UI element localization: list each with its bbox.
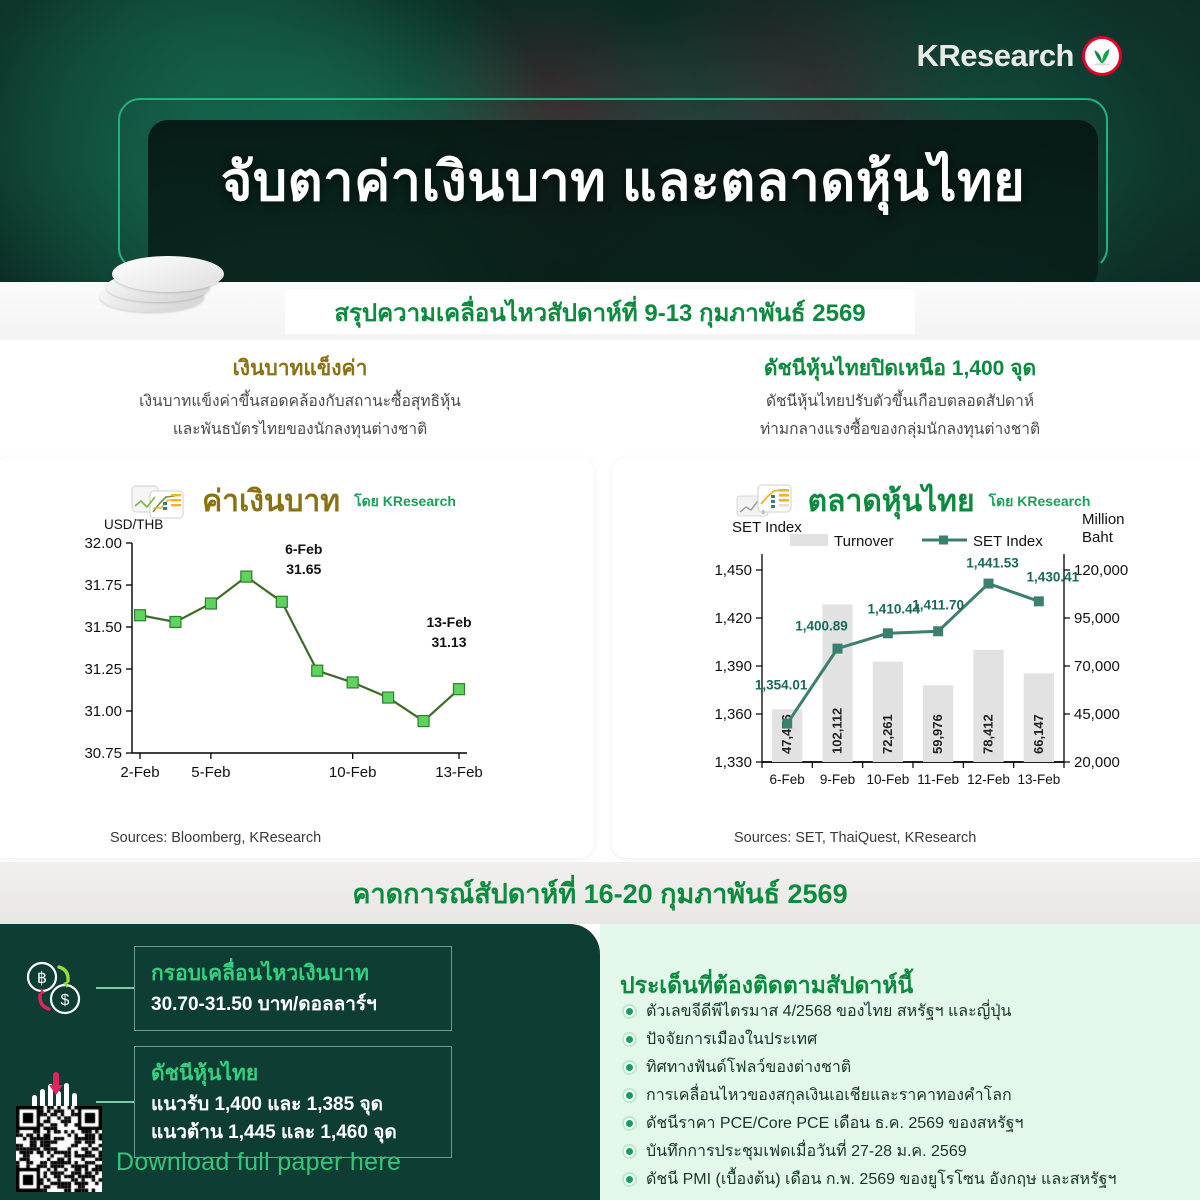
svg-text:9-Feb: 9-Feb xyxy=(820,772,855,787)
svg-text:11-Feb: 11-Feb xyxy=(917,772,959,787)
svg-text:Turnover: Turnover xyxy=(834,533,893,550)
bullet-dot-icon xyxy=(622,1172,637,1187)
svg-text:12-Feb: 12-Feb xyxy=(967,772,1010,787)
svg-text:59,976: 59,976 xyxy=(930,714,945,754)
svg-text:20,000: 20,000 xyxy=(1074,754,1120,771)
svg-text:1,441.53: 1,441.53 xyxy=(966,556,1019,571)
svg-text:31.75: 31.75 xyxy=(84,577,122,594)
svg-text:1,390: 1,390 xyxy=(714,658,752,675)
svg-text:2-Feb: 2-Feb xyxy=(120,764,159,781)
svg-text:6-Feb: 6-Feb xyxy=(770,772,805,787)
list-item: ปัจจัยการเมืองในประเทศ xyxy=(622,1028,1187,1052)
panel-set-chart: ตลาดหุ้นไทย โดย KResearch SET IndexMilli… xyxy=(612,458,1200,858)
forecast-set-support: แนวรับ 1,400 และ 1,385 จุด xyxy=(151,1092,435,1118)
svg-text:102,112: 102,112 xyxy=(830,708,845,754)
kresearch-logo: KResearch xyxy=(917,36,1122,76)
page-title: จับตาค่าเงินบาท และตลาดหุ้นไทย xyxy=(148,150,1098,215)
summary-col-set: ดัชนีหุ้นไทยปิดเหนือ 1,400 จุด ดัชนีหุ้น… xyxy=(600,340,1200,452)
svg-text:31.25: 31.25 xyxy=(84,661,122,678)
list-item-label: บันทึกการประชุมเฟดเมื่อวันที่ 27-28 ม.ค.… xyxy=(646,1140,967,1164)
svg-text:6-Feb: 6-Feb xyxy=(285,541,322,557)
svg-text:1,400.89: 1,400.89 xyxy=(795,619,848,634)
list-item-label: ดัชนี PMI (เบื้องต้น) เดือน ก.พ. 2569 ขอ… xyxy=(646,1168,1116,1192)
summary-strip: เงินบาทแข็งค่า เงินบาทแข็งค่าขึ้นสอดคล้อ… xyxy=(0,340,1200,452)
svg-text:1,354.01: 1,354.01 xyxy=(755,678,808,693)
svg-text:1,330: 1,330 xyxy=(714,754,752,771)
panel-baht-chart: ค่าเงินบาท โดย KResearch USD/THB30.7531.… xyxy=(0,458,594,858)
list-item-label: การเคลื่อนไหวของสกุลเงินเอเชียและราคาทอง… xyxy=(646,1084,1012,1108)
panel-baht-sources: Sources: Bloomberg, KResearch xyxy=(0,830,594,846)
coin-stack-illustration xyxy=(92,248,242,344)
summary-text-baht-line1: เงินบาทแข็งค่าขึ้นสอดคล้องกับสถานะซื้อสุ… xyxy=(0,391,600,413)
forecast-currency-title: กรอบเคลื่อนไหวเงินบาท xyxy=(151,957,435,990)
svg-text:31.50: 31.50 xyxy=(84,619,122,636)
forecast-box-currency: กรอบเคลื่อนไหวเงินบาท 30.70-31.50 บาท/ดอ… xyxy=(134,946,452,1031)
baht-line-chart: USD/THB30.7531.0031.2531.5031.7532.002-F… xyxy=(0,518,594,818)
svg-text:31.65: 31.65 xyxy=(286,561,321,577)
list-item: ตัวเลขจีดีพีไตรมาส 4/2568 ของไทย สหรัฐฯ … xyxy=(622,1000,1187,1024)
svg-text:1,420: 1,420 xyxy=(714,610,752,627)
summary-text-set-line1: ดัชนีหุ้นไทยปรับตัวขึ้นเกือบตลอดสัปดาห์ xyxy=(600,391,1200,413)
bullet-dot-icon xyxy=(622,1116,637,1131)
list-item-label: ตัวเลขจีดีพีไตรมาส 4/2568 ของไทย สหรัฐฯ … xyxy=(646,1000,1011,1024)
svg-text:95,000: 95,000 xyxy=(1074,610,1120,627)
bullet-dot-icon xyxy=(622,1144,637,1159)
svg-text:30.75: 30.75 xyxy=(84,745,122,762)
forecast-currency-range: 30.70-31.50 บาท/ดอลลาร์ฯ xyxy=(151,992,435,1018)
svg-text:$: $ xyxy=(61,992,70,1009)
svg-text:10-Feb: 10-Feb xyxy=(329,764,377,781)
svg-text:120,000: 120,000 xyxy=(1074,562,1128,579)
svg-text:Million: Million xyxy=(1082,511,1125,528)
list-item: ดัชนี PMI (เบื้องต้น) เดือน ก.พ. 2569 ขอ… xyxy=(622,1168,1187,1192)
summary-col-baht: เงินบาทแข็งค่า เงินบาทแข็งค่าขึ้นสอดคล้อ… xyxy=(0,340,600,452)
svg-text:66,147: 66,147 xyxy=(1031,714,1046,754)
list-item: การเคลื่อนไหวของสกุลเงินเอเชียและราคาทอง… xyxy=(622,1084,1187,1108)
svg-text:13-Feb: 13-Feb xyxy=(1017,772,1060,787)
list-item-label: ทิศทางฟันด์โฟลว์ของต่างชาติ xyxy=(646,1056,851,1080)
svg-text:31.00: 31.00 xyxy=(84,703,122,720)
svg-text:10-Feb: 10-Feb xyxy=(866,772,909,787)
svg-text:13-Feb: 13-Feb xyxy=(426,614,471,630)
forecast-banner: คาดการณ์สัปดาห์ที่ 16-20 กุมภาพันธ์ 2569 xyxy=(0,862,1200,924)
bullet-dot-icon xyxy=(622,1088,637,1103)
connector-line-set xyxy=(96,1101,134,1103)
forecast-item-currency: ฿ $ กรอบเคลื่อนไหวเงินบาท 30.70-31.50 บา… xyxy=(18,946,452,1031)
forecast-set-title: ดัชนีหุ้นไทย xyxy=(151,1057,435,1090)
svg-text:72,261: 72,261 xyxy=(880,714,895,754)
hero-banner: จับตาค่าเงินบาท และตลาดหุ้นไทย KResearch xyxy=(0,0,1200,290)
svg-text:45,000: 45,000 xyxy=(1074,706,1120,723)
summary-text-baht-line2: และพันธบัตรไทยของนักลงทุนต่างชาติ xyxy=(0,419,600,441)
panel-set-sources: Sources: SET, ThaiQuest, KResearch xyxy=(612,830,1200,846)
set-combo-chart: SET IndexMillionBahtTurnoverSET Index1,3… xyxy=(612,510,1200,820)
panel-baht-byline: โดย KResearch xyxy=(354,491,456,513)
connector-line-currency xyxy=(96,987,134,989)
bullet-dot-icon xyxy=(622,1032,637,1047)
svg-text:5-Feb: 5-Feb xyxy=(191,764,230,781)
list-item-label: ดัชนีราคา PCE/Core PCE เดือน ธ.ค. 2569 ข… xyxy=(646,1112,1023,1136)
summary-text-set-line2: ท่ามกลางแรงซื้อของกลุ่มนักลงทุนต่างชาติ xyxy=(600,419,1200,441)
week-summary-banner: สรุปความเคลื่อนไหวสัปดาห์ที่ 9-13 กุมภาพ… xyxy=(285,290,915,334)
logo-text: KResearch xyxy=(917,38,1074,74)
list-item: ทิศทางฟันด์โฟลว์ของต่างชาติ xyxy=(622,1056,1187,1080)
forecast-set-resistance: แนวต้าน 1,445 และ 1,460 จุด xyxy=(151,1120,435,1146)
watch-list-heading: ประเด็นที่ต้องติดตามสัปดาห์นี้ xyxy=(620,968,913,1004)
currency-exchange-icon: ฿ $ xyxy=(18,955,96,1021)
svg-text:1,430.41: 1,430.41 xyxy=(1027,569,1080,584)
forecast-banner-text: คาดการณ์สัปดาห์ที่ 16-20 กุมภาพันธ์ 2569 xyxy=(352,872,847,915)
svg-text:1,411.70: 1,411.70 xyxy=(912,597,964,612)
bullet-dot-icon xyxy=(622,1060,637,1075)
svg-text:31.13: 31.13 xyxy=(431,634,466,650)
forecast-box-set: ดัชนีหุ้นไทย แนวรับ 1,400 และ 1,385 จุด … xyxy=(134,1046,452,1158)
svg-text:70,000: 70,000 xyxy=(1074,658,1120,675)
line-chart-icon xyxy=(130,482,188,522)
download-paper-link[interactable]: Download full paper here xyxy=(116,1148,401,1177)
svg-text:USD/THB: USD/THB xyxy=(104,518,163,532)
svg-text:1,360: 1,360 xyxy=(714,706,752,723)
summary-heading-set: ดัชนีหุ้นไทยปิดเหนือ 1,400 จุด xyxy=(600,352,1200,385)
seedling-icon xyxy=(1082,36,1122,76)
bullet-dot-icon xyxy=(622,1004,637,1019)
svg-text:SET Index: SET Index xyxy=(732,519,802,536)
svg-text:32.00: 32.00 xyxy=(84,535,122,552)
svg-text:SET Index: SET Index xyxy=(973,533,1043,550)
watch-list: ตัวเลขจีดีพีไตรมาส 4/2568 ของไทย สหรัฐฯ … xyxy=(622,1000,1187,1196)
svg-text:฿: ฿ xyxy=(37,970,47,987)
svg-text:13-Feb: 13-Feb xyxy=(435,764,483,781)
list-item: บันทึกการประชุมเฟดเมื่อวันที่ 27-28 ม.ค.… xyxy=(622,1140,1187,1164)
summary-heading-baht: เงินบาทแข็งค่า xyxy=(0,352,600,385)
list-item: ดัชนีราคา PCE/Core PCE เดือน ธ.ค. 2569 ข… xyxy=(622,1112,1187,1136)
infographic-page: จับตาค่าเงินบาท และตลาดหุ้นไทย KResearch… xyxy=(0,0,1200,1200)
svg-text:78,412: 78,412 xyxy=(981,714,996,754)
qr-code-icon[interactable] xyxy=(16,1106,102,1192)
svg-text:Baht: Baht xyxy=(1082,529,1114,546)
list-item-label: ปัจจัยการเมืองในประเทศ xyxy=(646,1028,817,1052)
svg-text:1,450: 1,450 xyxy=(714,562,752,579)
